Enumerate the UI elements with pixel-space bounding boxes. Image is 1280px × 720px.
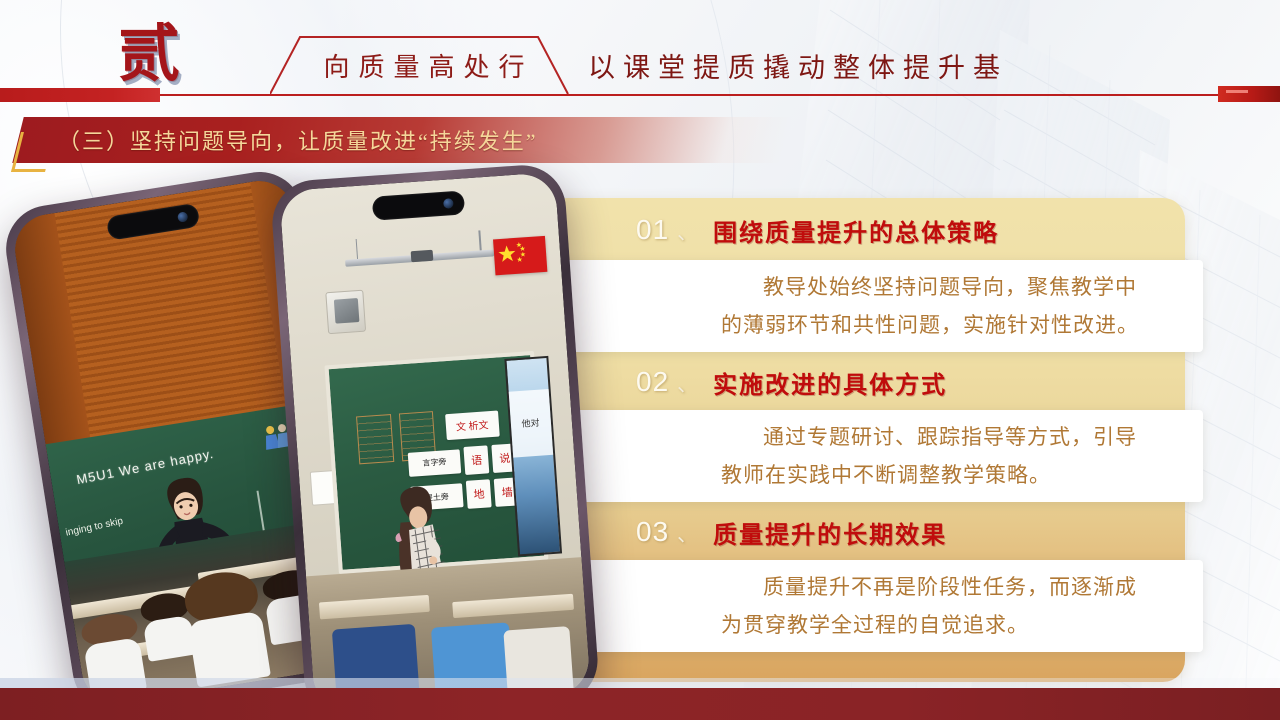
flag-stars	[493, 235, 547, 275]
phone2-char-label-1: 言字旁	[407, 449, 461, 477]
phone-mockup-chinese-class: 文 析文 言字旁 语 说 提土旁 地 墙 他对	[270, 162, 601, 720]
phone2-screen: 文 析文 言字旁 语 说 提土旁 地 墙 他对	[279, 172, 591, 712]
phone1-student-3-body	[188, 611, 271, 687]
header-rule-left-cap	[0, 88, 160, 102]
header-subtitle: 以课堂提质撬动整体提升基	[588, 46, 1008, 85]
phone2-desk-1	[319, 595, 430, 619]
card-separator-03: 、	[677, 518, 697, 547]
header-rule-right-cap	[1218, 86, 1280, 102]
card-title-03: 质量提升的长期效果	[713, 515, 947, 550]
title-plate-text: 向质量高处行	[270, 34, 570, 96]
card-heading-03: 03 、 质量提升的长期效果	[636, 512, 947, 552]
card-number-03: 03	[636, 516, 669, 548]
card-body-02-line2: 教师在实践中不断调整教学策略。	[721, 456, 1155, 494]
phone1-student-3	[181, 568, 271, 688]
phone2-desk-2	[452, 593, 574, 618]
card-body-01-line1: 教导处始终坚持问题导向，聚焦教学中	[721, 268, 1155, 306]
section-banner: （三）坚持问题导向，让质量改进“持续发生”	[18, 117, 788, 163]
phone2-grid-square-1	[356, 414, 394, 464]
phone2-char-card-1: 文 析文	[445, 410, 499, 440]
phone2-char-card-4: 地	[466, 479, 492, 509]
card-number-02: 02	[636, 366, 669, 398]
phone2-lamp-core	[411, 250, 434, 263]
card-body-01-line2: 的薄弱环节和共性问题，实施针对性改进。	[721, 306, 1155, 344]
card-body-01: 教导处始终坚持问题导向，聚焦教学中 的薄弱环节和共性问题，实施针对性改进。	[545, 260, 1203, 352]
card-number-01: 01	[636, 214, 669, 246]
phone2-screen-caption: 他对	[508, 389, 553, 458]
header-rule	[0, 94, 1268, 96]
slide-header: 贰 向质量高处行 以课堂提质撬动整体提升基	[0, 0, 1280, 112]
card-body-02: 通过专题研讨、跟踪指导等方式，引导 教师在实践中不断调整教学策略。	[545, 410, 1203, 502]
phone2-projector-unit-icon	[325, 290, 366, 335]
section-number-badge: 贰	[118, 24, 182, 86]
card-heading-02: 02 、 实施改进的具体方式	[636, 362, 947, 402]
card-heading-01: 01 、 围绕质量提升的总体策略	[636, 210, 999, 250]
card-body-03-line2: 为贯穿教学全过程的自觉追求。	[721, 606, 1155, 644]
card-body-03: 质量提升不再是阶段性任务，而逐渐成 为贯穿教学全过程的自觉追求。	[545, 560, 1203, 652]
phone2-char-card-2: 语	[464, 445, 490, 475]
card-body-03-line1: 质量提升不再是阶段性任务，而逐渐成	[721, 568, 1155, 606]
slide-root: 贰 向质量高处行 以课堂提质撬动整体提升基 （三）坚持问题导向，让质量改进“持续…	[0, 0, 1280, 720]
card-title-02: 实施改进的具体方式	[713, 365, 947, 400]
card-separator-02: 、	[677, 368, 697, 397]
card-title-01: 围绕质量提升的总体策略	[713, 213, 999, 248]
card-body-02-line1: 通过专题研讨、跟踪指导等方式，引导	[721, 418, 1155, 456]
section-banner-text: （三）坚持问题导向，让质量改进“持续发生”	[58, 124, 538, 156]
bottom-light-strip	[0, 678, 1280, 688]
title-plate: 向质量高处行	[270, 34, 570, 96]
card-separator-01: 、	[677, 216, 697, 245]
phone2-china-flag-icon	[493, 235, 547, 275]
bottom-bar	[0, 688, 1280, 720]
